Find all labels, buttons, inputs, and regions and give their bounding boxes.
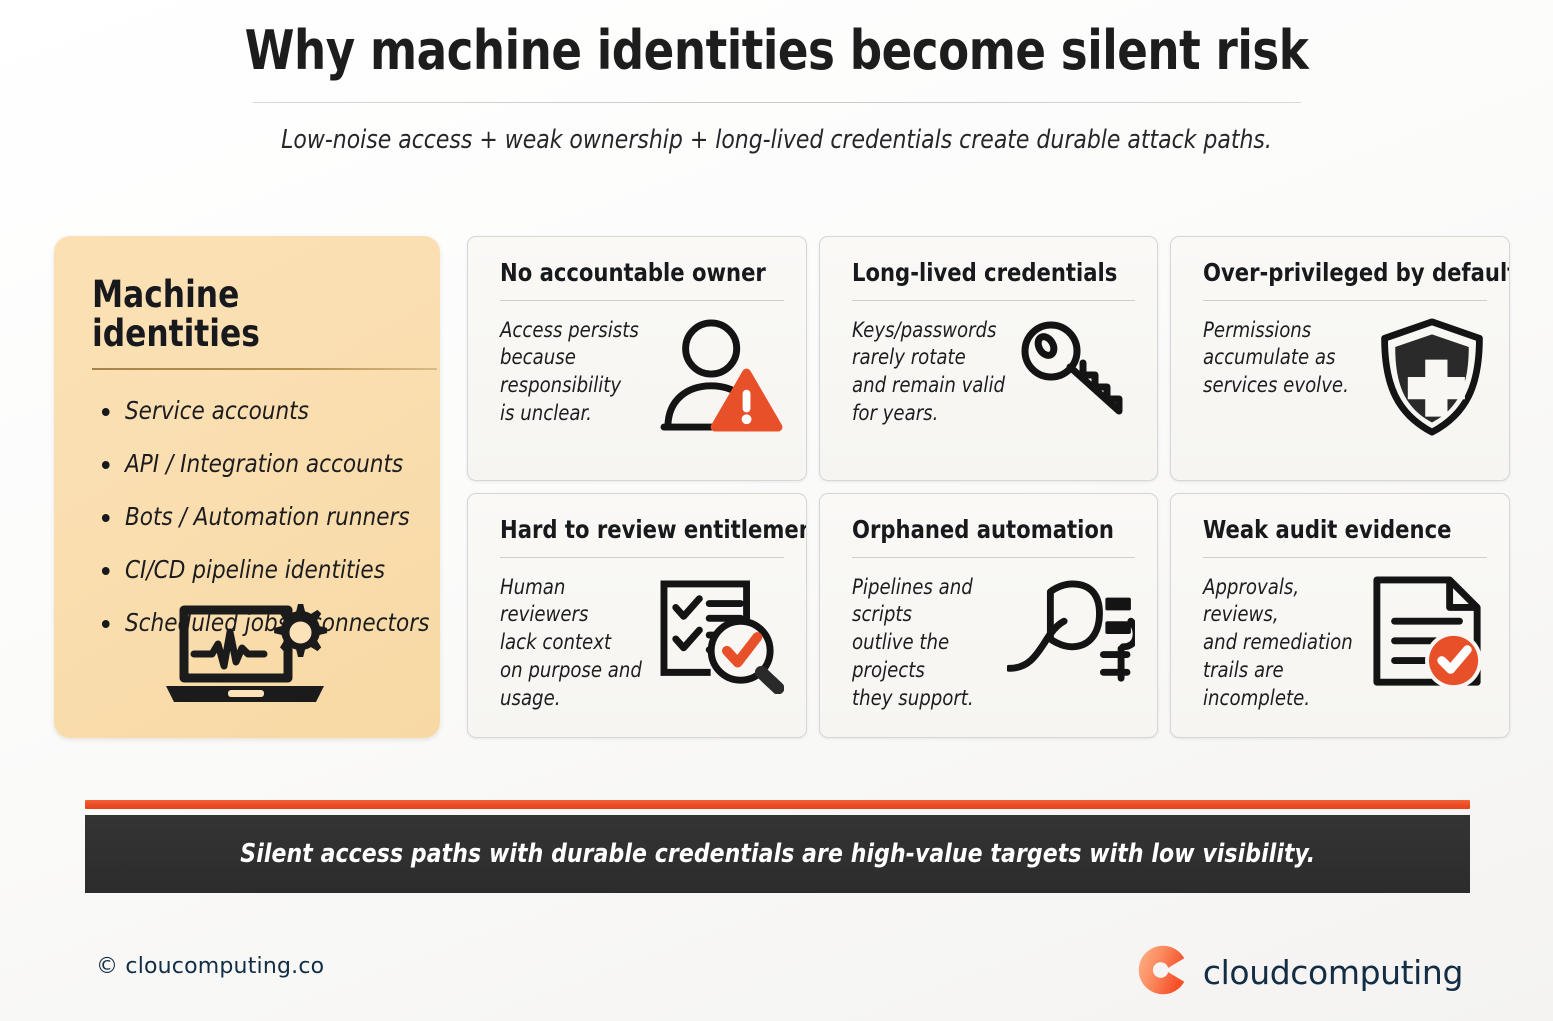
laptop-gear-icon <box>160 596 330 712</box>
key-icon <box>1015 317 1135 431</box>
copyright-text: © cloucomputing.co <box>96 954 324 979</box>
card-orphaned-automation: Orphaned automation Pipelines and script… <box>819 493 1159 738</box>
list-item: Bots / Automation runners <box>100 502 401 532</box>
card-long-lived-credentials: Long-lived credentials Keys/passwords ra… <box>819 236 1159 481</box>
banner-accent-bar <box>85 800 1470 809</box>
page-title: Why machine identities become silent ris… <box>54 22 1498 84</box>
card-divider <box>852 300 1136 301</box>
card-title: Long-lived credentials <box>852 259 1119 287</box>
header: Why machine identities become silent ris… <box>0 22 1553 157</box>
card-hard-to-review-entitlements: Hard to review entitlements Human review… <box>467 493 807 738</box>
card-title: Hard to review entitlements <box>500 516 767 544</box>
card-title: Over-privileged by default <box>1203 259 1470 287</box>
machine-identities-panel: Machine identities Service accounts API … <box>54 236 440 738</box>
list-item: API / Integration accounts <box>100 449 401 479</box>
card-title: Weak audit evidence <box>1203 516 1470 544</box>
list-item: Service accounts <box>100 396 401 426</box>
cloudcomputing-c-logo <box>1137 944 1189 1000</box>
infographic-page: Why machine identities become silent ris… <box>0 0 1553 1021</box>
banner-body: Silent access paths with durable credent… <box>85 815 1470 893</box>
card-over-privileged-by-default: Over-privileged by default Permissions a… <box>1170 236 1510 481</box>
content-area: Machine identities Service accounts API … <box>54 236 1510 738</box>
title-divider <box>253 102 1301 103</box>
banner-text: Silent access paths with durable credent… <box>240 839 1315 869</box>
card-title: Orphaned automation <box>852 516 1119 544</box>
card-weak-audit-evidence: Weak audit evidence Approvals, reviews, … <box>1170 493 1510 738</box>
card-divider <box>500 300 784 301</box>
document-check-icon <box>1369 574 1487 694</box>
brand-name: cloudcomputing <box>1203 953 1463 992</box>
shield-plus-icon <box>1377 317 1487 441</box>
card-text: Access persists because responsibility i… <box>500 317 648 429</box>
unplugged-plug-icon <box>1007 578 1135 692</box>
card-text: Approvals, reviews, and remediation trai… <box>1203 574 1360 714</box>
card-no-accountable-owner: No accountable owner Access persists bec… <box>467 236 807 481</box>
risk-card-grid: No accountable owner Access persists bec… <box>467 236 1510 738</box>
card-divider <box>852 557 1136 558</box>
card-divider <box>1203 557 1487 558</box>
card-text: Keys/passwords rarely rotate and remain … <box>852 317 1007 429</box>
checklist-magnifier-icon <box>656 578 784 698</box>
card-text: Pipelines and scripts outlive the projec… <box>852 574 1000 714</box>
user-warning-icon <box>656 317 784 437</box>
footer: © cloucomputing.co cloudcomputing <box>0 938 1553 1008</box>
card-text: Permissions accumulate as services evolv… <box>1203 317 1368 401</box>
card-text: Human reviewers lack context on purpose … <box>500 574 648 714</box>
card-title: No accountable owner <box>500 259 767 287</box>
panel-divider <box>92 368 437 370</box>
card-divider <box>1203 300 1487 301</box>
list-item: CI/CD pipeline identities <box>100 555 401 585</box>
brand-lockup: cloudcomputing <box>1137 944 1463 1000</box>
page-subtitle: Low-noise access + weak ownership + long… <box>47 125 1507 156</box>
panel-title: Machine identities <box>92 276 395 354</box>
summary-banner: Silent access paths with durable credent… <box>85 800 1470 893</box>
card-divider <box>500 557 784 558</box>
